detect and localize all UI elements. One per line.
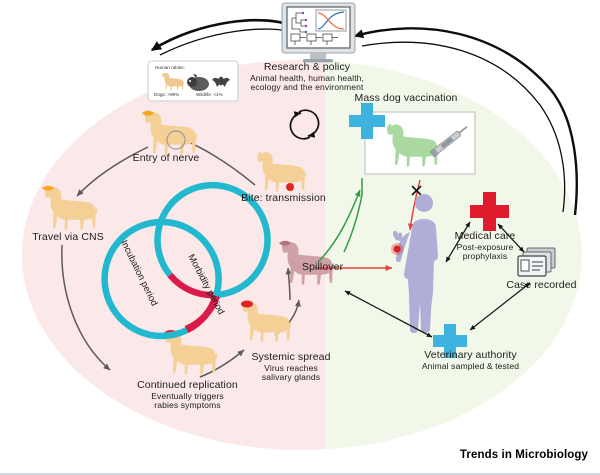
label-travel-via-cns: Travel via CNS — [8, 232, 128, 244]
label-systemic-spread: Systemic spread Virus reaches salivary g… — [231, 352, 351, 383]
journal-credit: Trends in Microbiology — [460, 449, 588, 461]
research-policy-label: Research & policy Animal health, human h… — [212, 62, 402, 93]
label-continued-replication: Continued replication Eventually trigger… — [105, 380, 270, 411]
label-veterinary-authority: Veterinary authority Animal sampled & te… — [393, 350, 548, 371]
bite-wound-icon — [391, 243, 403, 255]
inset-wildlife-share: Wildlife: <1% — [196, 92, 223, 97]
inset-dog-share: Dogs: >99% — [154, 92, 179, 97]
label-bite-transmission: Bite: transmission — [221, 193, 346, 205]
label-case-recorded: Case recorded — [489, 280, 594, 292]
label-mass-dog-vaccination: Mass dog vaccination — [311, 93, 501, 105]
label-entry-of-nerve: Entry of nerve — [106, 153, 226, 165]
research-policy-title: Research & policy — [212, 62, 402, 74]
computer-monitor-icon — [282, 3, 355, 62]
inset-title: Human rabies: — [155, 65, 185, 70]
rabies-cycle-figure: Research & policy Animal health, human h… — [0, 0, 600, 475]
label-spillover: Spillover — [302, 262, 382, 274]
label-medical-care: Medical care Post-exposure prophylaxis — [430, 231, 540, 262]
